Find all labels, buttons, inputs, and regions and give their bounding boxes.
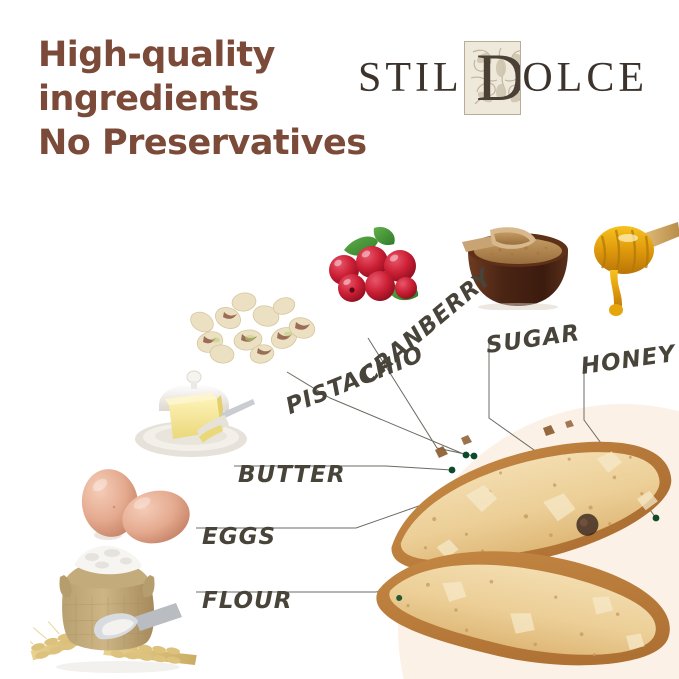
label-butter: BUTTER [238, 462, 346, 488]
letter-d-glyph: D [465, 42, 522, 114]
ornate-letter-d-icon: D [464, 41, 522, 115]
butter-dish-image [125, 355, 255, 465]
biscotti-slices [375, 420, 679, 679]
cranberries-image [322, 222, 432, 310]
honey-dipper-image [588, 216, 679, 320]
product-infographic: High-quality ingredients No Preservative… [0, 0, 679, 679]
flour-sack-image [30, 535, 206, 679]
label-eggs: EGGS [202, 524, 276, 550]
cranberry-fruits [329, 246, 417, 302]
label-flour: FLOUR [202, 588, 293, 614]
